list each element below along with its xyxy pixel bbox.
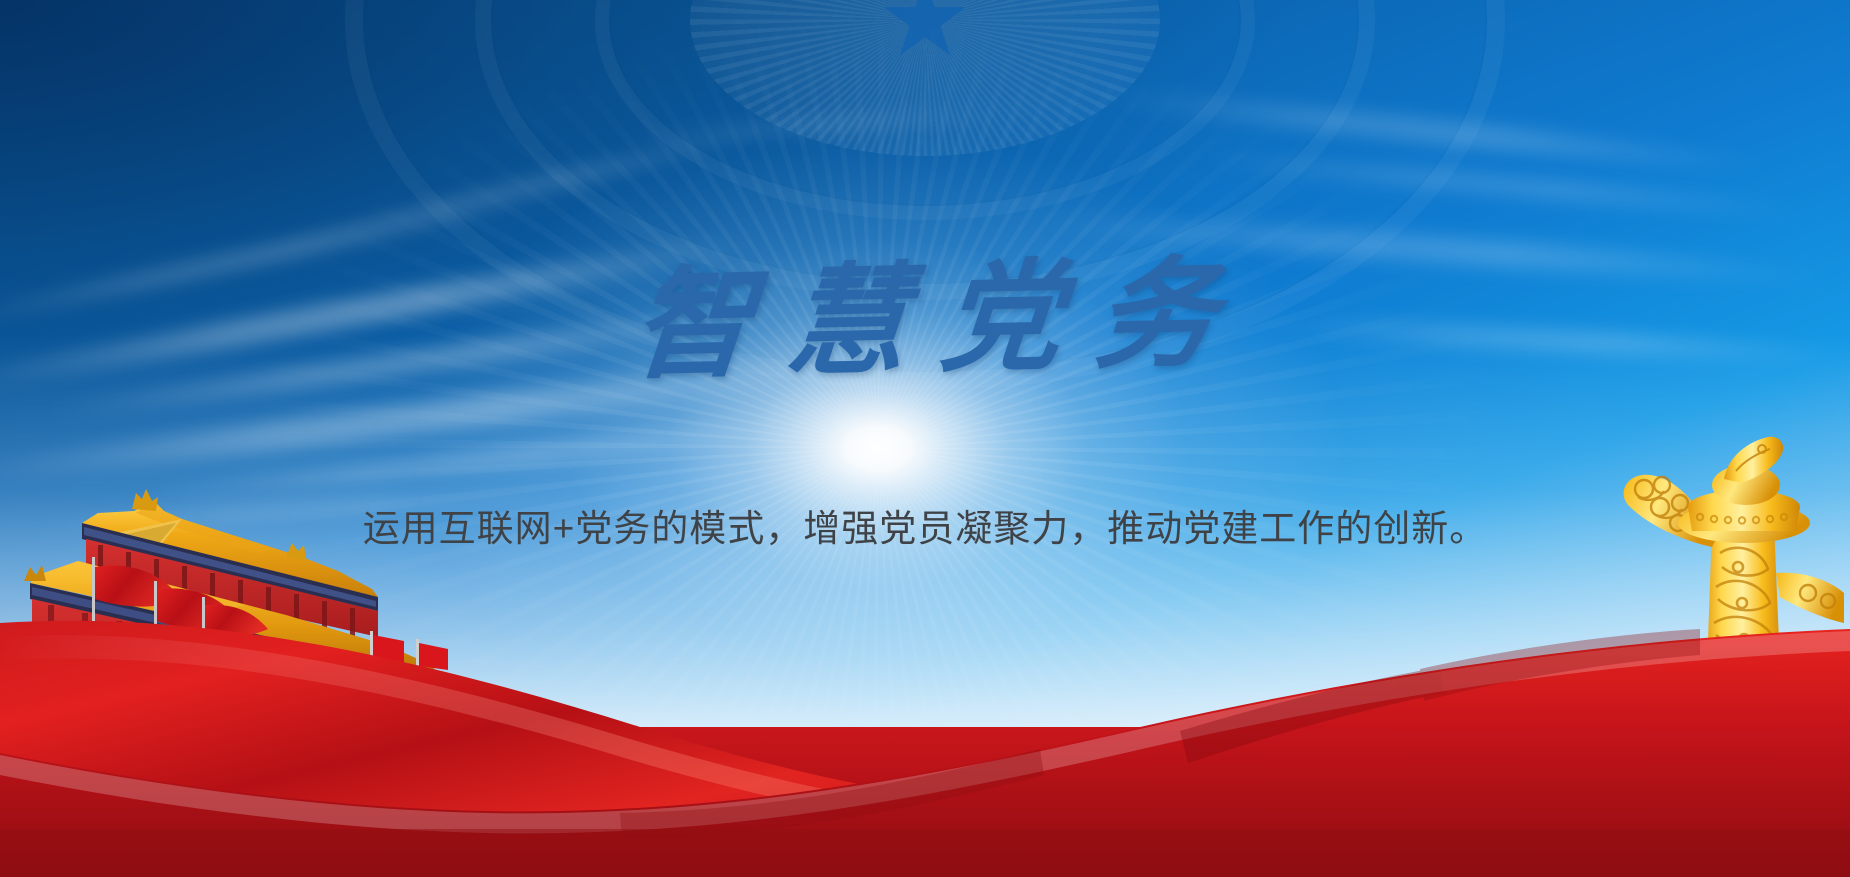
ribbon-base xyxy=(0,727,1850,877)
huabiao-column-illustration xyxy=(1616,427,1846,757)
red-flag xyxy=(373,635,404,663)
slogan-left-text: 中华人民共和国万岁 xyxy=(31,691,166,709)
page-subtitle: 运用互联网+党务的模式，增强党员凝聚力，推动党建工作的创新。 xyxy=(0,498,1850,552)
flag-pole xyxy=(202,597,205,667)
tiananmen-gate-illustration: 中华人民共和国万岁 世界人民大团结万岁 xyxy=(0,449,456,749)
flag-pole xyxy=(92,557,95,657)
flag-pole xyxy=(416,639,419,697)
red-flag xyxy=(419,643,448,670)
party-affairs-banner: 中华人民共和国万岁 世界人民大团结万岁 xyxy=(0,0,1850,877)
roof-ornament xyxy=(24,565,46,581)
flag-pole xyxy=(370,631,373,691)
slogan-banner-left: 中华人民共和国万岁 xyxy=(31,685,166,713)
flag-pole xyxy=(154,581,157,661)
